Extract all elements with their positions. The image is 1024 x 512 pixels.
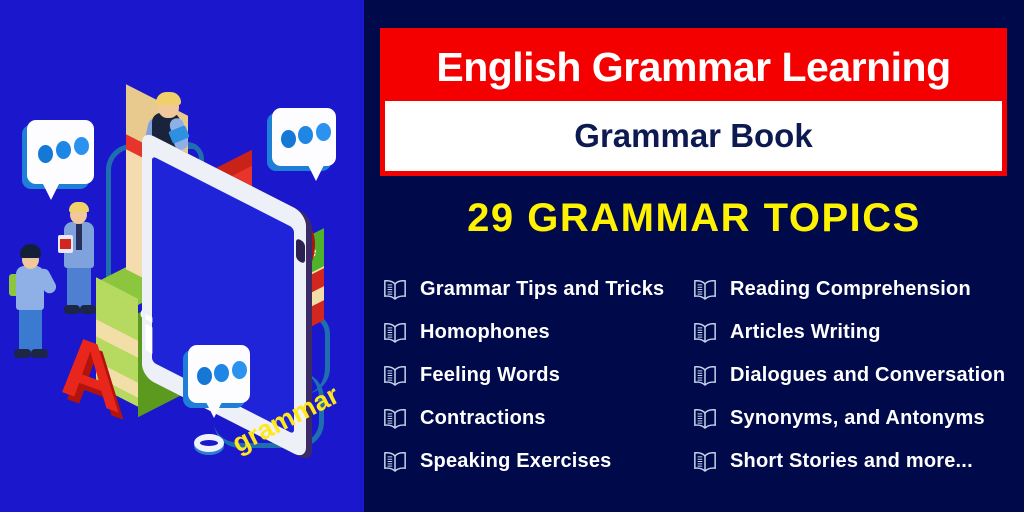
list-item-label: Contractions [420,407,546,430]
list-item-label: Articles Writing [730,321,881,344]
illustration-panel: ench English Chinese b [0,0,364,512]
speech-bubble-left [27,120,94,184]
topics-column-left: Grammar Tips and Tricks Homophones Feeli… [380,268,690,483]
teacher-hair [69,202,89,212]
teacher-shoe-2 [80,305,96,314]
open-book-icon [690,321,720,345]
list-item[interactable]: Synonyms, and Antonyms [690,397,1020,440]
speech-dot [197,367,212,385]
header-banner: English Grammar Learning Grammar Book [380,28,1007,176]
open-book-icon [380,321,410,345]
open-book-icon [690,364,720,388]
letter-a-3d: A [60,317,121,427]
teacher-shoe [64,305,80,314]
open-book-icon [380,407,410,431]
open-book-icon [690,450,720,474]
teacher-clipboard-page [60,239,71,249]
header-subtitle-band: Grammar Book [385,101,1002,171]
teacher-legs [67,264,91,310]
list-item-label: Homophones [420,321,550,344]
speech-dot [281,130,296,148]
student-legs [19,306,42,354]
topics-columns: Grammar Tips and Tricks Homophones Feeli… [380,268,1024,483]
list-item[interactable]: Speaking Exercises [380,440,690,483]
header-title-band: English Grammar Learning [385,33,1002,101]
teacher-tie [76,224,82,250]
speech-dot [74,137,89,155]
list-item[interactable]: Contractions [380,397,690,440]
topics-heading: 29 GRAMMAR TOPICS [364,196,1024,241]
tablet-side-button [296,238,305,265]
page-subtitle: Grammar Book [574,117,812,155]
list-item[interactable]: Reading Comprehension [690,268,1020,311]
student-shoe [14,349,31,358]
sitting-person-hair [156,92,181,105]
list-item[interactable]: Grammar Tips and Tricks [380,268,690,311]
list-item[interactable]: Dialogues and Conversation [690,354,1020,397]
ring-marker-icon [194,434,224,452]
letter-i-3d: i [142,306,156,363]
list-item-label: Short Stories and more... [730,450,973,473]
open-book-icon [690,278,720,302]
speech-dot [214,364,229,382]
content-panel: English Grammar Learning Grammar Book 29… [364,0,1024,512]
speech-dot [56,141,71,159]
student-hair [20,244,41,258]
page-title: English Grammar Learning [436,44,950,91]
list-item-label: Feeling Words [420,364,560,387]
list-item[interactable]: Articles Writing [690,311,1020,354]
open-book-icon [380,278,410,302]
open-book-icon [690,407,720,431]
speech-bubble-bottom [188,345,250,403]
list-item[interactable]: Feeling Words [380,354,690,397]
speech-dot [298,126,313,144]
list-item[interactable]: Homophones [380,311,690,354]
list-item-label: Dialogues and Conversation [730,364,1005,387]
speech-dot [38,145,53,163]
poster-root: ench English Chinese b [0,0,1024,512]
speech-dot [232,361,247,379]
list-item-label: Synonyms, and Antonyms [730,407,985,430]
speech-dot [316,123,331,141]
list-item-label: Speaking Exercises [420,450,612,473]
topics-column-right: Reading Comprehension Articles Writing D… [690,268,1020,483]
list-item-label: Grammar Tips and Tricks [420,278,664,301]
open-book-icon [380,364,410,388]
speech-bubble-right [272,108,336,166]
list-item-label: Reading Comprehension [730,278,971,301]
open-book-icon [380,450,410,474]
student-shoe-2 [31,349,48,358]
list-item[interactable]: Short Stories and more... [690,440,1020,483]
